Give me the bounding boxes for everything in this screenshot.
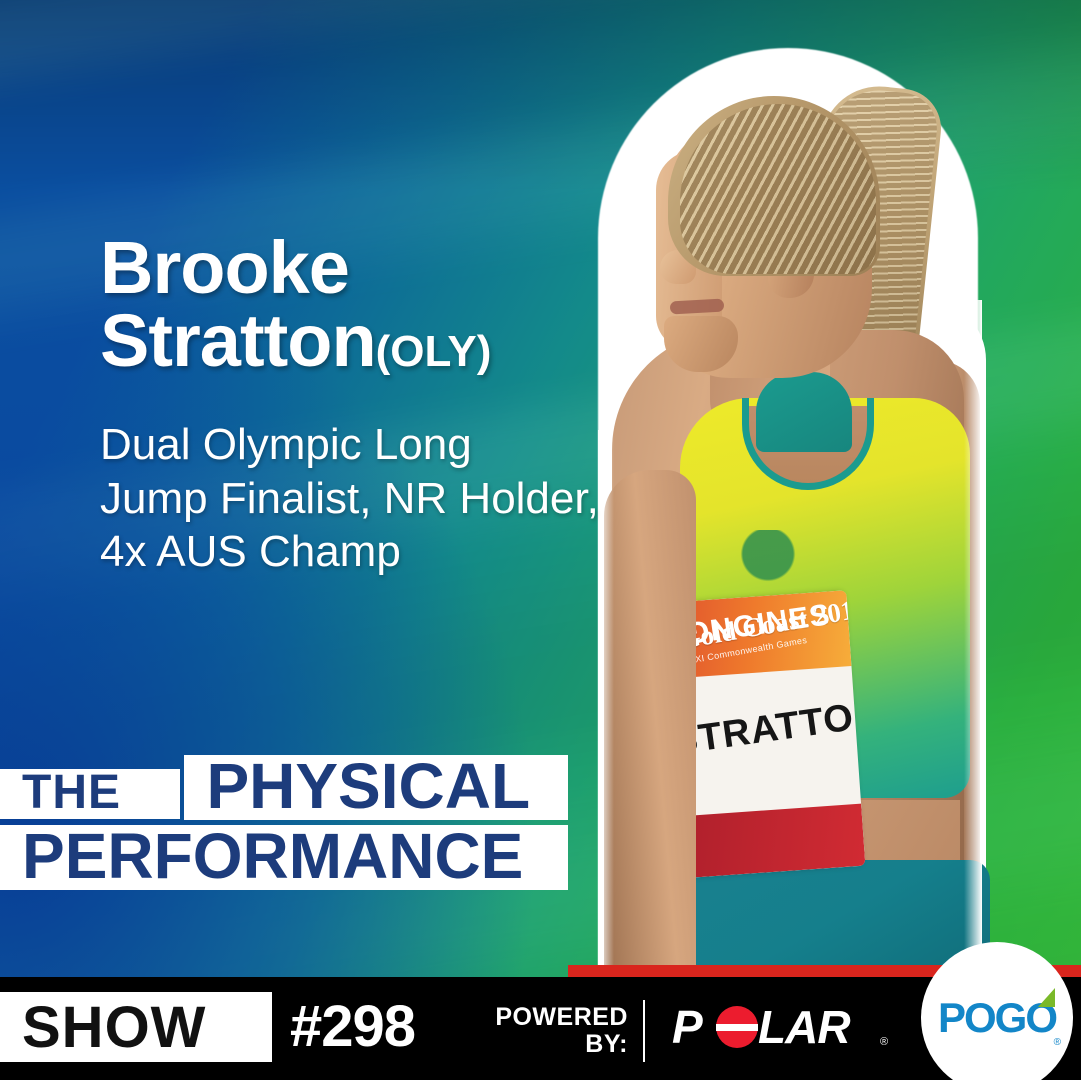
polar-letter-p: P [672,1004,703,1050]
powered-by-line-1: POWERED [478,1004,628,1031]
guest-first-name: Brooke [100,232,660,305]
polar-letters-lar: LAR [758,1004,850,1050]
polar-registered-icon: ® [880,1036,888,1048]
sponsor-divider [643,1000,645,1062]
logo-box-performance: PERFORMANCE [0,825,568,890]
logo-word-physical: PHYSICAL [206,757,552,816]
logo-word-the: THE [22,771,164,815]
show-logo: THE PHYSICAL PERFORMANCE [0,755,1081,895]
athlete-team-crest [740,530,796,590]
guest-suffix: (OLY) [376,327,492,376]
guest-last-name-row: Stratton(OLY) [100,305,660,378]
powered-by-line-2: BY: [478,1031,628,1058]
credential-line-3: 4x AUS Champ [100,525,660,579]
logo-box-physical: PHYSICAL [184,755,568,820]
guest-last-name: Stratton [100,299,376,382]
athlete-right-rim-light [964,300,982,1000]
pogo-leaf-icon [1038,988,1055,1007]
credential-line-2: Jump Finalist, NR Holder, [100,472,660,526]
guest-credentials: Dual Olympic Long Jump Finalist, NR Hold… [100,418,660,579]
pogo-registered-icon: ® [1054,1037,1061,1048]
credential-line-1: Dual Olympic Long [100,418,660,472]
guest-name-block: Brooke Stratton(OLY) [100,232,660,377]
episode-number: #298 [290,996,415,1058]
podcast-cover-art: Gold Coast 2018 XXI Commonwealth Games S… [0,0,1081,1080]
polar-logo[interactable]: P LAR ® [672,1004,902,1050]
bottom-bar: SHOW #298 POWERED BY: P LAR ® POGO ® [0,977,1081,1080]
athlete-singlet-strap [756,372,852,452]
polar-o-crossbar [716,1024,758,1031]
powered-by-label: POWERED BY: [478,1004,628,1058]
logo-word-show: SHOW [22,994,206,1062]
bib-athlete-name: STRATTON [671,694,866,764]
logo-word-performance: PERFORMANCE [22,827,552,886]
logo-box-show: SHOW [0,992,272,1062]
logo-box-the: THE [0,769,180,819]
